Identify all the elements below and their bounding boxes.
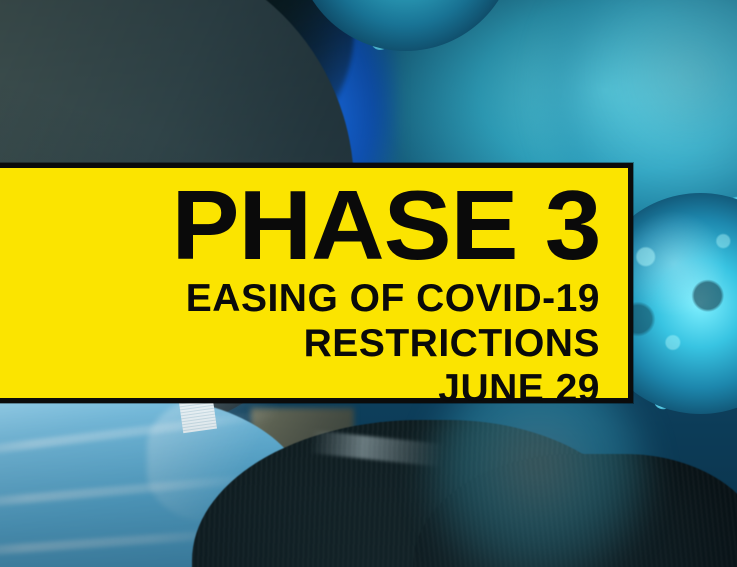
page-title: PHASE 3	[171, 178, 600, 272]
subtitle-line-1: EASING OF COVID-19	[186, 278, 600, 321]
subtitle-line-2: RESTRICTIONS	[304, 323, 600, 366]
covid-phase3-poster: PHASE 3 EASING OF COVID-19 RESTRICTIONS …	[0, 0, 737, 567]
headline-banner: PHASE 3 EASING OF COVID-19 RESTRICTIONS …	[0, 163, 633, 403]
mask-nose-clip	[179, 398, 217, 434]
subtitle-line-3: JUNE 29	[438, 368, 600, 411]
